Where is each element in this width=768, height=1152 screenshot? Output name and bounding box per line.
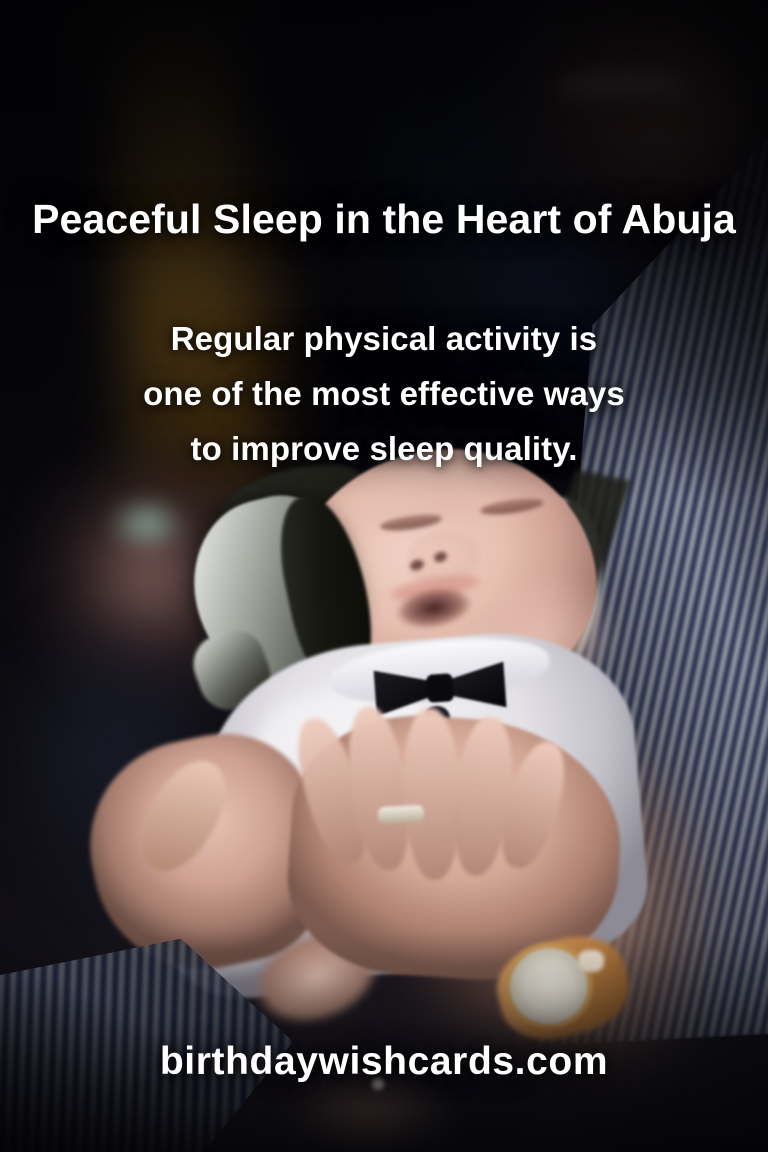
greeting-card: Peaceful Sleep in the Heart of Abuja Reg… [0, 0, 768, 1152]
subtitle-line-2: one of the most effective ways [44, 367, 724, 422]
subtitle-line-1: Regular physical activity is [44, 312, 724, 367]
card-title: Peaceful Sleep in the Heart of Abuja [26, 192, 742, 247]
subtitle-line-3: to improve sleep quality. [44, 422, 724, 477]
card-subtitle: Regular physical activity is one of the … [44, 312, 724, 476]
text-overlay: Peaceful Sleep in the Heart of Abuja Reg… [0, 0, 768, 1152]
site-watermark: birthdaywishcards.com [0, 1040, 768, 1084]
